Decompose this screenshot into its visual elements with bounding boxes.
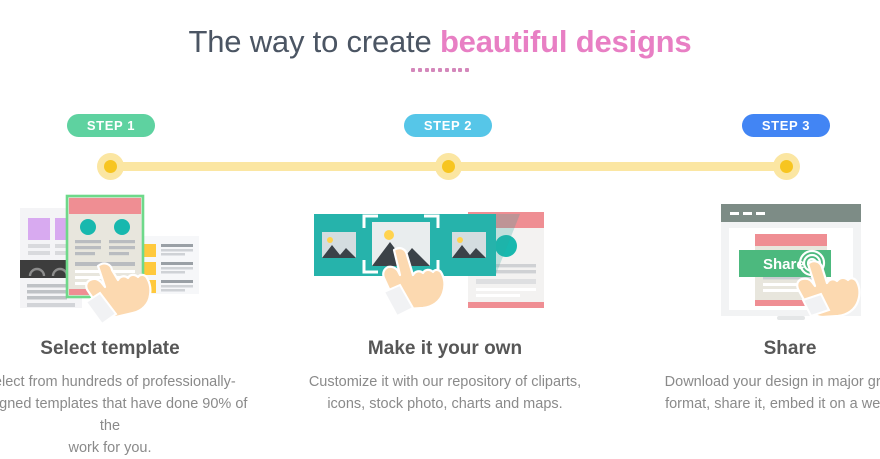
step-badge-1[interactable]: STEP 1 bbox=[67, 114, 155, 137]
column-3-body: Download your design in major graphic fo… bbox=[645, 371, 880, 415]
step-badge-3[interactable]: STEP 3 bbox=[742, 114, 830, 137]
column-1-body: Select from hundreds of professionally- … bbox=[0, 371, 255, 459]
column-2-body: Customize it with our repository of clip… bbox=[300, 371, 590, 415]
column-share: Share Download your design in major grap… bbox=[645, 336, 880, 415]
timeline-node-1[interactable] bbox=[97, 153, 124, 180]
share-button-label: Share bbox=[763, 256, 805, 273]
page-title-accent: beautiful designs bbox=[440, 24, 692, 59]
select-template-illustration bbox=[0, 190, 255, 330]
share-illustration: Share bbox=[645, 190, 880, 330]
section-header: The way to create beautiful designs bbox=[0, 22, 880, 76]
column-2-heading: Make it your own bbox=[300, 336, 590, 362]
column-3-heading: Share bbox=[645, 336, 880, 362]
make-it-your-own-illustration bbox=[300, 190, 590, 330]
title-dotted-underline bbox=[411, 68, 469, 76]
timeline-node-2[interactable] bbox=[435, 153, 462, 180]
column-make-it-your-own: Make it your own Customize it with our r… bbox=[300, 336, 590, 415]
step-badge-2[interactable]: STEP 2 bbox=[404, 114, 492, 137]
steps-section: The way to create beautiful designs STEP… bbox=[0, 0, 880, 448]
page-title-plain: The way to create bbox=[189, 24, 440, 59]
column-select-template: Select template Select from hundreds of … bbox=[0, 336, 255, 459]
timeline-node-3[interactable] bbox=[773, 153, 800, 180]
page-title: The way to create beautiful designs bbox=[0, 22, 880, 62]
column-1-heading: Select template bbox=[0, 336, 255, 362]
